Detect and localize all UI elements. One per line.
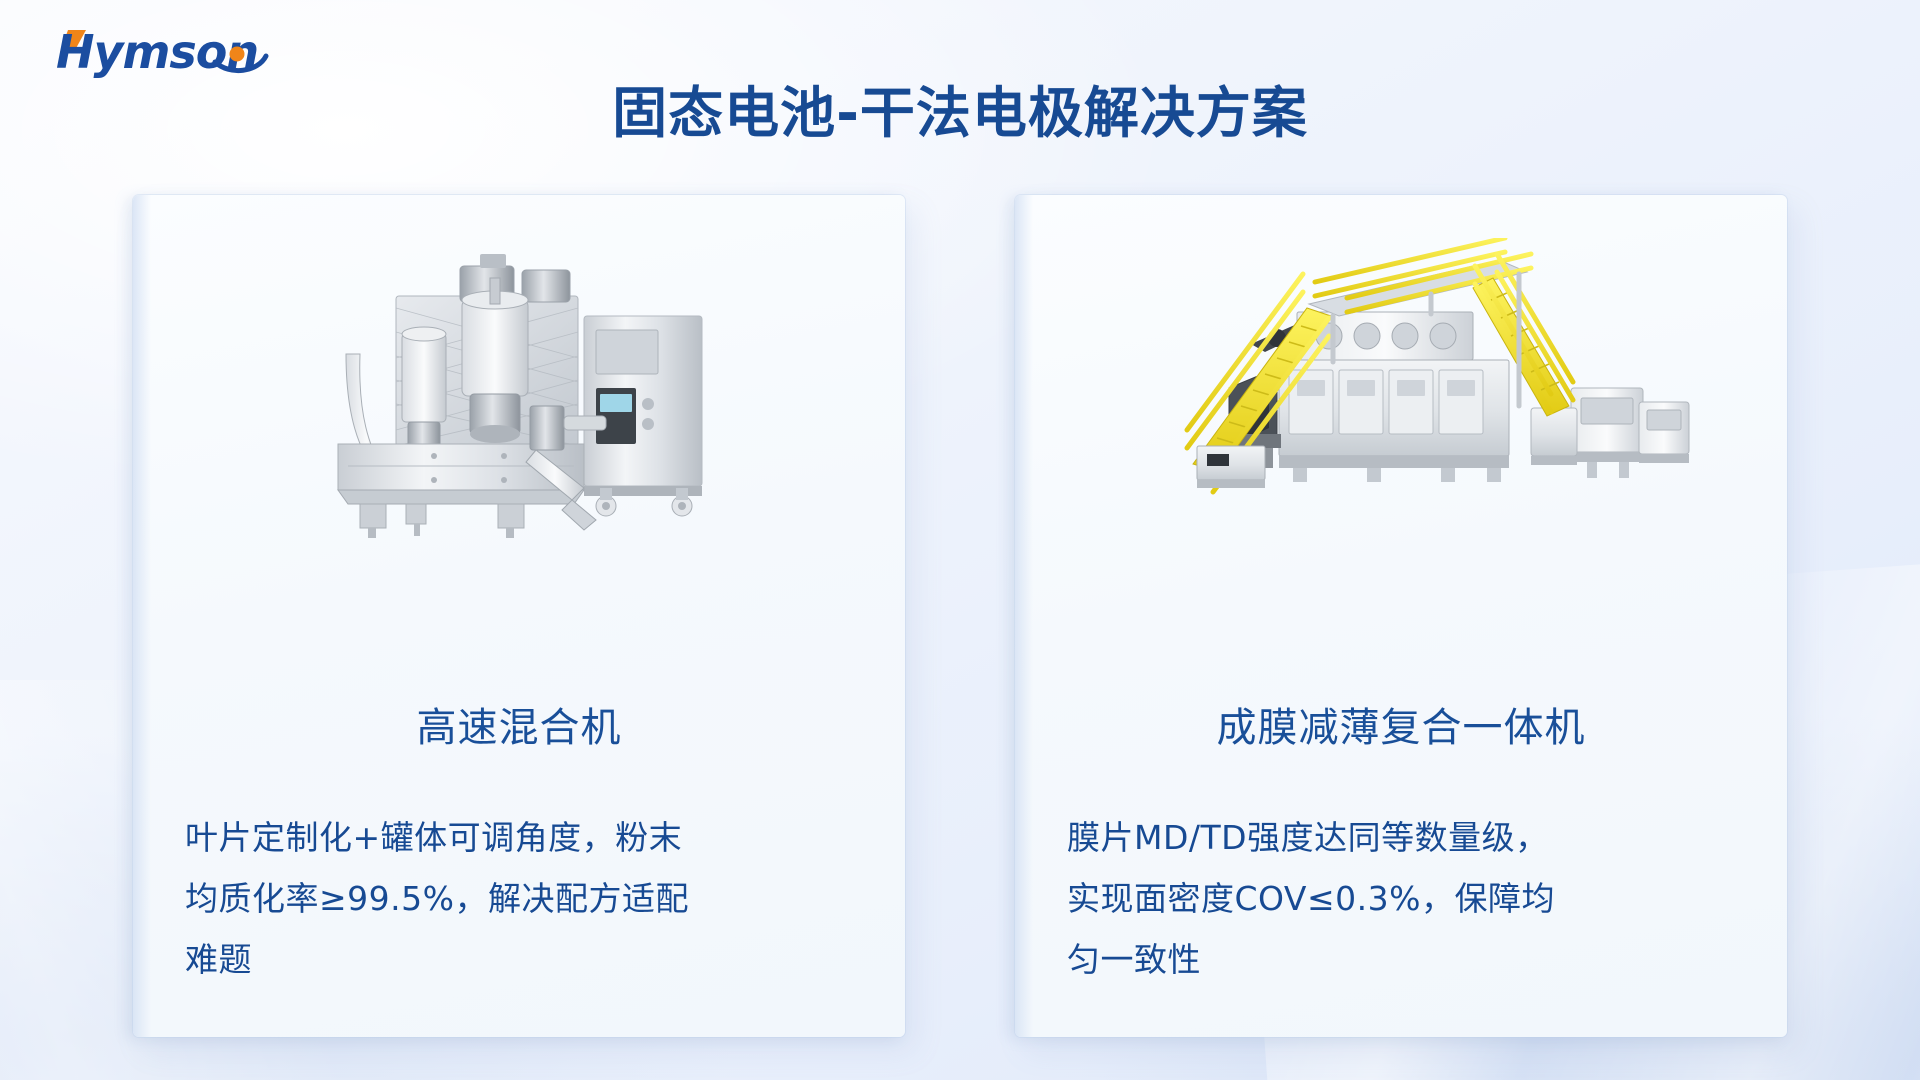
film-forming-thinning-laminating-line-photo [1015, 223, 1787, 553]
card-body-line: 实现面密度COV≤0.3%，保障均 [1067, 868, 1735, 929]
card-body-line: 均质化率≥99.5%，解决配方适配 [185, 868, 853, 929]
product-card-mixer[interactable]: 高速混合机 叶片定制化+罐体可调角度，粉末 均质化率≥99.5%，解决配方适配 … [133, 195, 905, 1037]
card-title-mixer: 高速混合机 [133, 695, 905, 753]
card-title-film-line: 成膜减薄复合一体机 [1015, 695, 1787, 753]
page-title: 固态电池-干法电极解决方案 [0, 68, 1920, 148]
card-row: 高速混合机 叶片定制化+罐体可调角度，粉末 均质化率≥99.5%，解决配方适配 … [133, 195, 1787, 1037]
card-body-line: 叶片定制化+罐体可调角度，粉末 [185, 807, 853, 868]
card-body-mixer: 叶片定制化+罐体可调角度，粉末 均质化率≥99.5%，解决配方适配 难题 [185, 807, 853, 990]
card-body-line: 难题 [185, 929, 853, 990]
card-body-line: 膜片MD/TD强度达同等数量级， [1067, 807, 1735, 868]
card-body-film-line: 膜片MD/TD强度达同等数量级， 实现面密度COV≤0.3%，保障均 匀一致性 [1067, 807, 1735, 990]
card-body-line: 匀一致性 [1067, 929, 1735, 990]
slide-root: Hymson 固态电池-干法电极解决方案 [0, 0, 1920, 1080]
product-card-film-line[interactable]: 成膜减薄复合一体机 膜片MD/TD强度达同等数量级， 实现面密度COV≤0.3%… [1015, 195, 1787, 1037]
high-speed-mixer-machine-photo [133, 223, 905, 553]
